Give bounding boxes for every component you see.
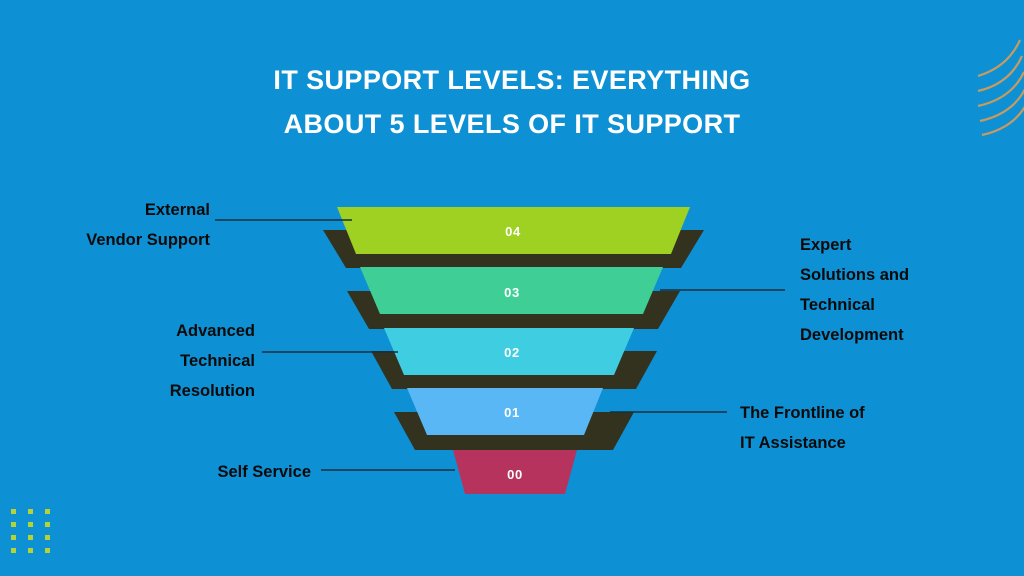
decoration-dot <box>28 509 33 514</box>
decoration-dot <box>45 522 50 527</box>
funnel-label-advanced-technical-resolution: Advanced Technical Resolution <box>55 316 255 406</box>
label-line: Technical <box>55 346 255 376</box>
label-line: Technical <box>800 290 1015 320</box>
label-line: Advanced <box>55 316 255 346</box>
funnel-segment-00[interactable] <box>453 450 577 494</box>
decoration-dot <box>45 509 50 514</box>
label-line: Development <box>800 320 1015 350</box>
funnel-segment-04[interactable] <box>337 207 690 254</box>
funnel-segment-02[interactable] <box>384 328 634 375</box>
label-line: IT Assistance <box>740 428 970 458</box>
funnel-segments <box>337 207 690 494</box>
decoration-dot <box>45 535 50 540</box>
label-line: Resolution <box>55 376 255 406</box>
slide-canvas: IT SUPPORT LEVELS: EVERYTHING ABOUT 5 LE… <box>0 0 1024 576</box>
decoration-dot <box>45 548 50 553</box>
decoration-dot <box>11 535 16 540</box>
label-line: Self Service <box>111 457 311 487</box>
funnel-label-expert-solutions-technical-development: Expert Solutions and Technical Developme… <box>800 230 1015 350</box>
label-line: External <box>10 195 210 225</box>
label-line: The Frontline of <box>740 398 970 428</box>
arc-lines-decoration <box>954 34 1024 139</box>
decoration-dot <box>11 509 16 514</box>
funnel-segment-03[interactable] <box>360 267 663 314</box>
funnel-label-frontline-it-assistance: The Frontline of IT Assistance <box>740 398 970 458</box>
dot-grid-decoration <box>11 509 55 555</box>
decoration-dot <box>28 548 33 553</box>
decoration-dot <box>28 535 33 540</box>
decoration-dot <box>11 522 16 527</box>
decoration-dot <box>28 522 33 527</box>
decoration-dot <box>11 548 16 553</box>
label-line: Expert <box>800 230 1015 260</box>
label-line: Solutions and <box>800 260 1015 290</box>
funnel-label-self-service: Self Service <box>111 457 311 487</box>
label-line: Vendor Support <box>10 225 210 255</box>
funnel-segment-01[interactable] <box>407 388 603 435</box>
funnel-label-external-vendor-support: External Vendor Support <box>10 195 210 255</box>
